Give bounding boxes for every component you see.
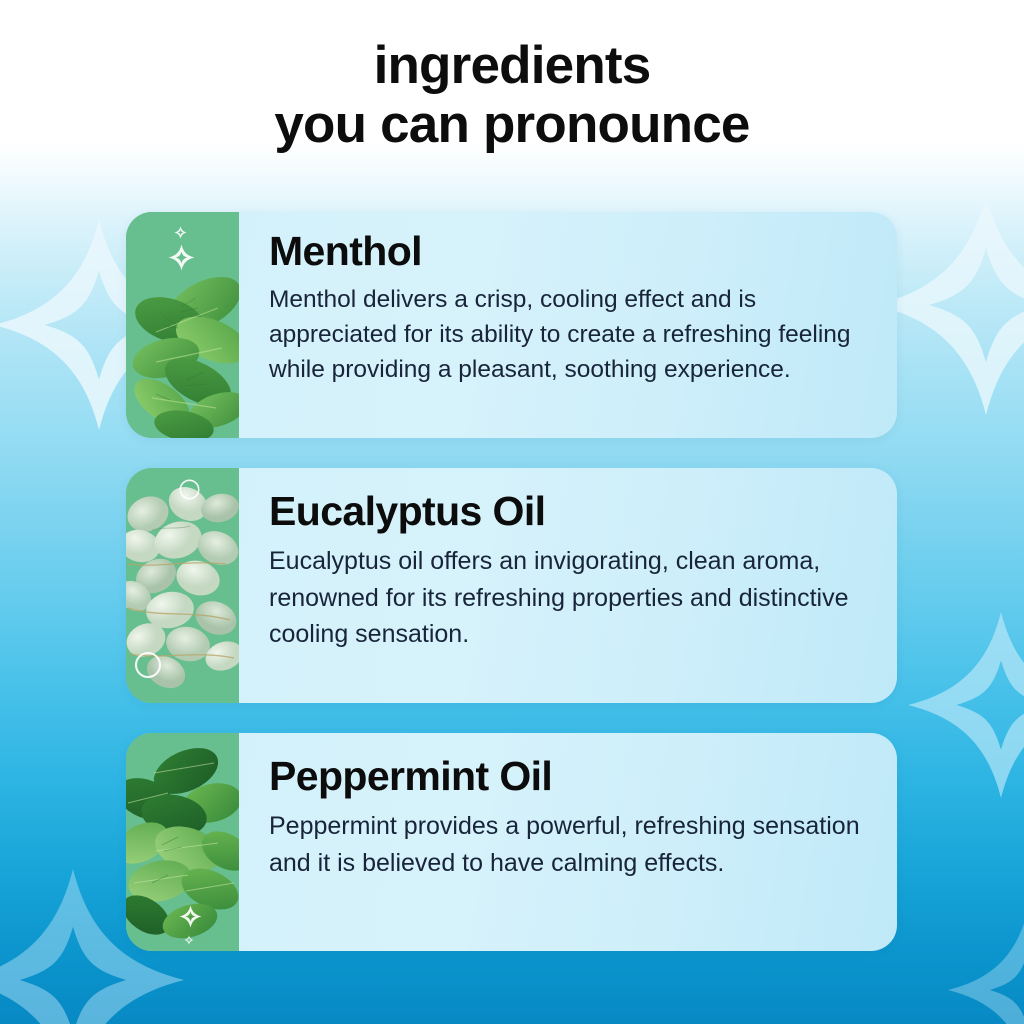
ingredient-text: Eucalyptus Oil Eucalyptus oil offers an … xyxy=(239,468,897,703)
sparkle-mid-right-icon xyxy=(908,600,1024,810)
ingredient-title: Eucalyptus Oil xyxy=(269,490,871,533)
page-title: ingredients you can pronounce xyxy=(0,36,1024,155)
ingredient-image xyxy=(126,468,239,703)
ingredients-infographic: ingredients you can pronounce xyxy=(0,0,1024,1024)
ingredient-description: Eucalyptus oil offers an invigorating, c… xyxy=(269,543,869,652)
page-title-line-1: ingredients xyxy=(0,36,1024,95)
ingredient-card[interactable]: Eucalyptus Oil Eucalyptus oil offers an … xyxy=(126,468,897,703)
diamond-outline-icon xyxy=(168,244,195,271)
ingredient-card[interactable]: Peppermint Oil Peppermint provides a pow… xyxy=(126,733,897,951)
diamond-outline-icon xyxy=(184,935,194,945)
ingredient-description: Peppermint provides a powerful, refreshi… xyxy=(269,808,869,881)
ingredient-card[interactable]: Menthol Menthol delivers a crisp, coolin… xyxy=(126,212,897,438)
ingredient-description: Menthol delivers a crisp, cooling effect… xyxy=(269,283,869,387)
circle-outline-icon xyxy=(178,478,201,501)
page-title-line-2: you can pronounce xyxy=(0,95,1024,154)
sparkle-top-right-icon xyxy=(876,180,1024,430)
ingredient-image xyxy=(126,733,239,951)
diamond-outline-icon xyxy=(179,905,202,928)
ingredient-title: Menthol xyxy=(269,230,871,273)
circle-outline-icon xyxy=(133,650,163,680)
ingredient-text: Menthol Menthol delivers a crisp, coolin… xyxy=(239,212,897,438)
sparkle-bottom-right-icon xyxy=(948,900,1024,1024)
ingredient-text: Peppermint Oil Peppermint provides a pow… xyxy=(239,733,897,951)
diamond-outline-icon xyxy=(174,226,187,239)
ingredient-title: Peppermint Oil xyxy=(269,755,871,798)
ingredient-image xyxy=(126,212,239,438)
